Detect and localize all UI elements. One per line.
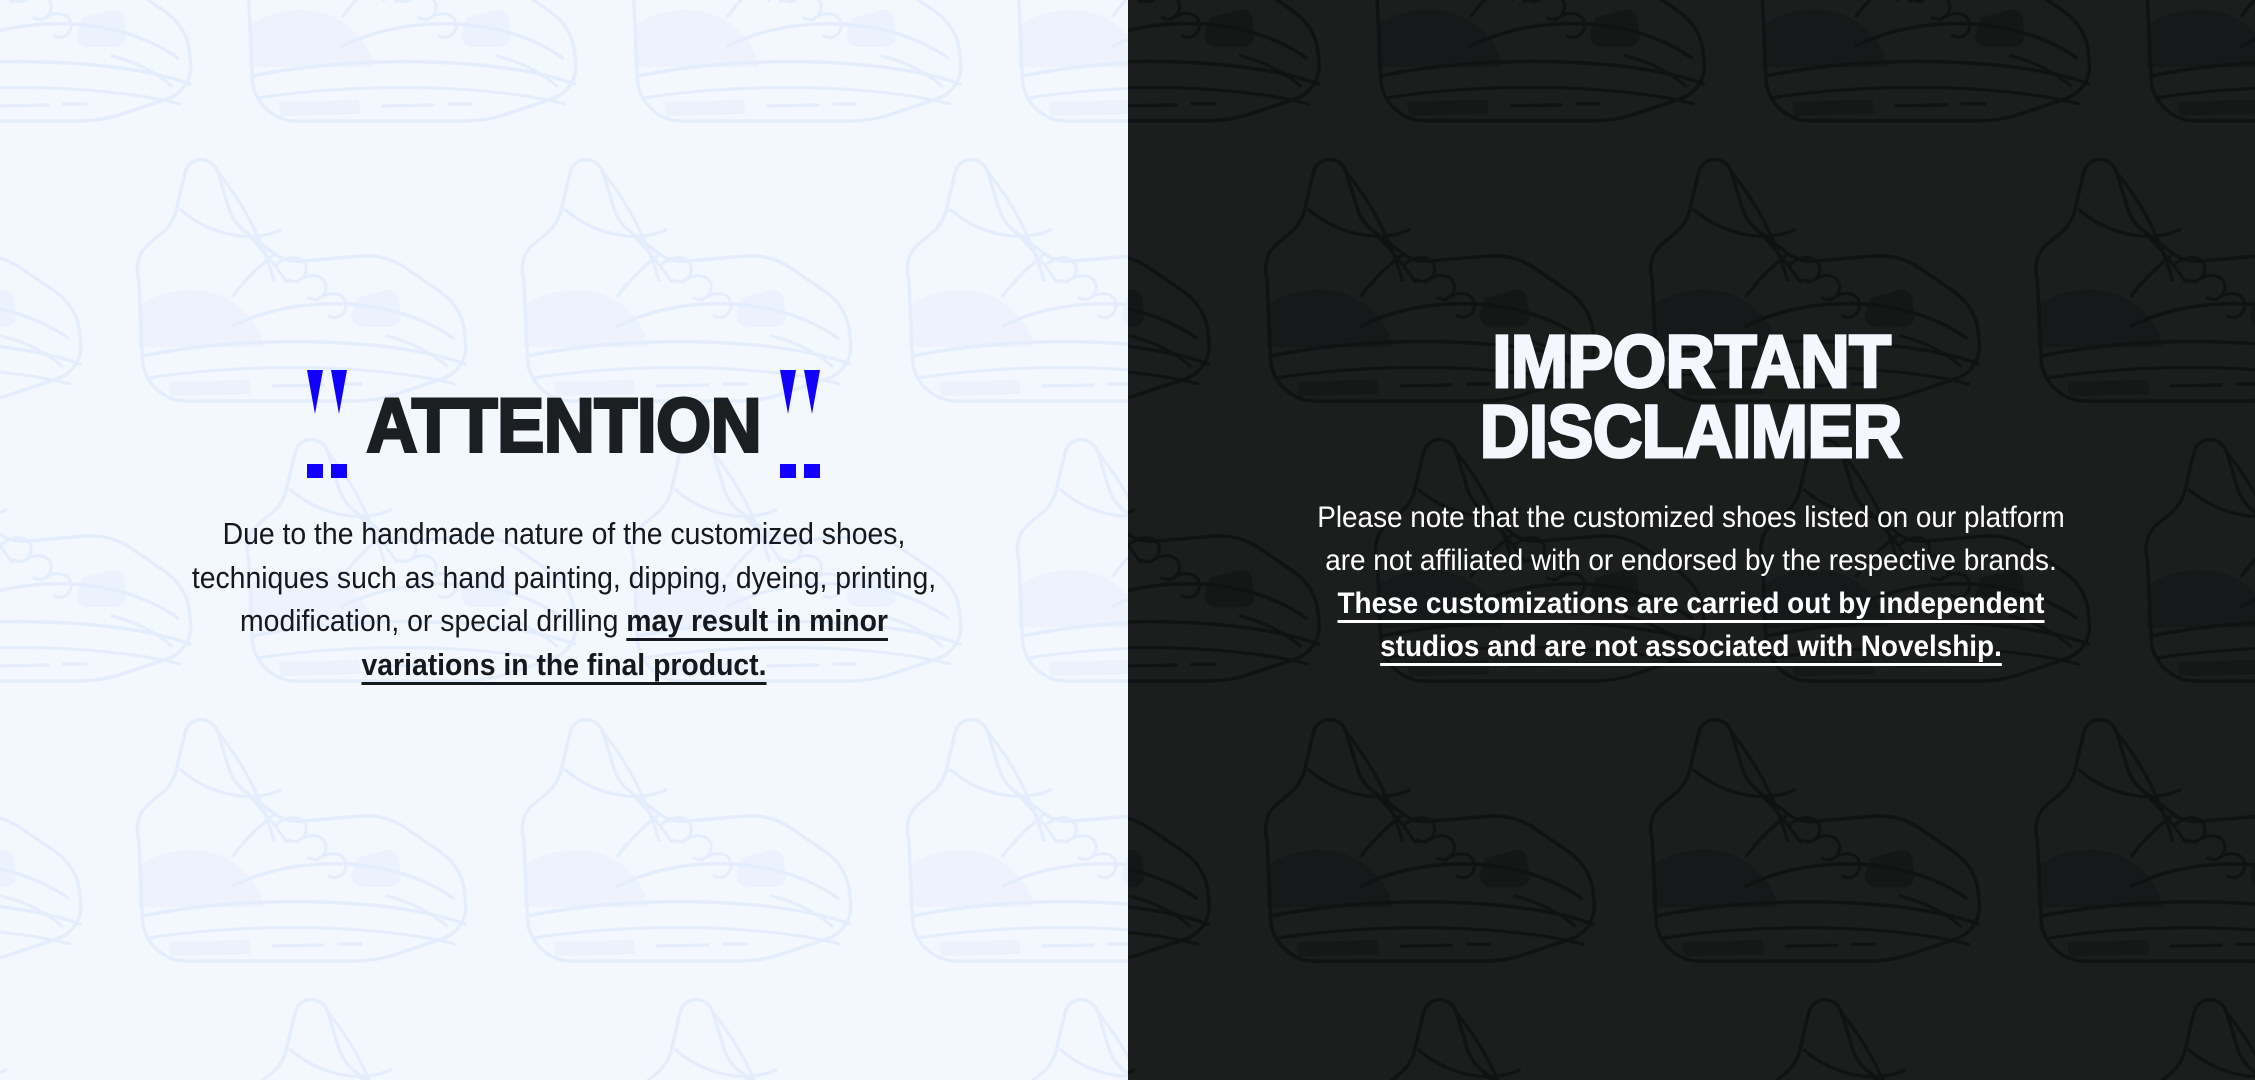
exclamation-glyph [804,370,821,478]
disclaimer-body: Please note that the customized shoes li… [1296,496,2087,668]
disclaimer-content: IMPORTANT DISCLAIMER Please note that th… [1128,0,2255,668]
attention-content: ATTENTION Due to the handmade nature of … [0,0,1128,687]
disclaimer-panel: IMPORTANT DISCLAIMER Please note that th… [1128,0,2255,1080]
exclamation-glyph [307,370,324,478]
double-exclamation-mark-icon-right [780,370,821,478]
double-exclamation-mark-icon-left [307,370,348,478]
exclamation-glyph [780,370,797,478]
disclaimer-heading-line-2: DISCLAIMER [1480,394,1902,468]
exclamation-glyph [331,370,348,478]
attention-heading: ATTENTION [307,372,821,480]
disclaimer-body-emphasis: These customizations are carried out by … [1338,587,2045,663]
attention-disclaimer-banner: ATTENTION Due to the handmade nature of … [0,0,2255,1080]
disclaimer-heading: IMPORTANT DISCLAIMER [1488,328,1894,464]
attention-heading-text: ATTENTION [366,389,761,464]
disclaimer-body-lead: Please note that the customized shoes li… [1317,501,2065,577]
attention-body: Due to the handmade nature of the custom… [182,513,945,687]
attention-panel: ATTENTION Due to the handmade nature of … [0,0,1128,1080]
disclaimer-heading-line-1: IMPORTANT [1492,324,1890,398]
